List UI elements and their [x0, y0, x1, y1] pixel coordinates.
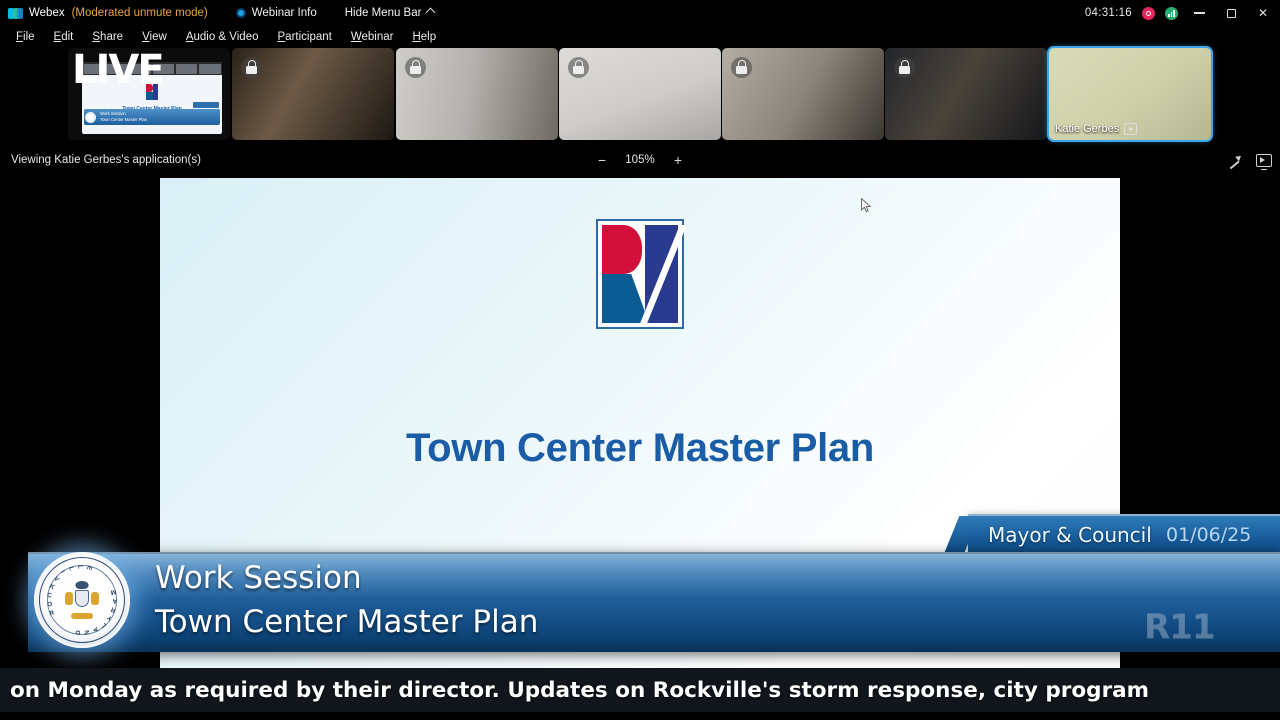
participant-tile[interactable]	[396, 48, 558, 140]
zoom-controls: − 105% +	[595, 153, 685, 167]
title-bar-left-group: Webex (Moderated unmute mode) Webinar In…	[8, 0, 434, 26]
zoom-out-button[interactable]: −	[595, 153, 609, 167]
share-preview-tag	[193, 102, 219, 108]
menu-bar: File Edit Share View Audio & Video Parti…	[0, 26, 1280, 48]
info-icon	[236, 8, 246, 18]
moderated-mode-label: (Moderated unmute mode)	[72, 7, 208, 19]
caption-text: on Monday as required by their director.…	[0, 678, 1149, 703]
mouse-cursor-icon	[861, 198, 872, 214]
share-toolbar-right-group	[1227, 153, 1272, 168]
broadcast-session-type: Work Session	[155, 560, 362, 596]
share-preview-banner-line2: Town Center Master Plan	[100, 117, 147, 123]
title-bar-right-group: 04:31:16 ✕	[1085, 0, 1274, 26]
share-preview-lower-third: Work Session Town Center Master Plan	[84, 109, 220, 125]
chevron-up-icon	[426, 7, 436, 17]
broadcast-date: 01/06/25	[1166, 524, 1251, 546]
menu-item-webinar[interactable]: Webinar	[343, 29, 402, 45]
app-name-label: Webex	[29, 7, 65, 19]
menu-item-participant[interactable]: Participant	[270, 29, 340, 45]
bottom-edge-strip	[0, 712, 1280, 720]
participant-name-badge: Katie Gerbes	[1055, 123, 1137, 135]
participant-filmstrip: Town Center Master Plan Work Session Tow…	[0, 48, 1280, 144]
minimize-button[interactable]	[1188, 3, 1210, 23]
hide-menu-bar-button[interactable]: Hide Menu Bar	[345, 7, 435, 19]
webinar-info-label: Webinar Info	[252, 7, 317, 19]
recording-icon[interactable]	[1142, 7, 1155, 20]
mute-lock-icon	[894, 57, 915, 78]
menu-item-help[interactable]: Help	[404, 29, 444, 45]
closed-caption-bar: on Monday as required by their director.…	[0, 668, 1280, 712]
hide-menu-bar-label: Hide Menu Bar	[345, 7, 422, 19]
channel-watermark: R11	[1144, 607, 1215, 647]
monitor-icon[interactable]	[1256, 154, 1272, 167]
viewing-status-label: Viewing Katie Gerbes's application(s)	[11, 154, 201, 166]
zoom-in-button[interactable]: +	[671, 153, 685, 167]
participant-tile[interactable]	[885, 48, 1047, 140]
menu-item-share[interactable]: Share	[84, 29, 131, 45]
seal-circular-text: ROCKVILLE · MARYLAND	[34, 552, 130, 648]
webinar-info-button[interactable]: Webinar Info	[236, 7, 317, 19]
broadcast-top-banner: Mayor & Council 01/06/25	[968, 514, 1280, 552]
mute-lock-icon	[568, 57, 589, 78]
mute-lock-icon	[731, 57, 752, 78]
share-preview-thumbnail[interactable]: Town Center Master Plan Work Session Tow…	[68, 48, 230, 140]
share-preview-seal-icon	[85, 112, 96, 123]
menu-item-view[interactable]: View	[134, 29, 175, 45]
participant-tile[interactable]	[232, 48, 394, 140]
session-timer: 04:31:16	[1085, 7, 1132, 19]
zoom-level-label: 105%	[623, 154, 657, 166]
close-button[interactable]: ✕	[1252, 3, 1274, 23]
live-overlay-label: LIVE	[72, 50, 163, 90]
participant-tile-katie-gerbes[interactable]: Katie Gerbes	[1049, 48, 1211, 140]
signal-strength-icon[interactable]	[1165, 7, 1178, 20]
webex-app-window: Webex (Moderated unmute mode) Webinar In…	[0, 0, 1280, 720]
participant-tile[interactable]	[559, 48, 721, 140]
rockville-r-logo-icon	[596, 219, 684, 329]
menu-item-audio-video[interactable]: Audio & Video	[178, 29, 267, 45]
share-toolbar: Viewing Katie Gerbes's application(s) − …	[0, 148, 1280, 176]
menu-item-file[interactable]: File	[8, 29, 43, 45]
mute-lock-icon	[241, 57, 262, 78]
presenter-badge-icon	[1124, 123, 1137, 135]
maximize-button[interactable]	[1220, 3, 1242, 23]
mute-lock-icon	[405, 57, 426, 78]
menu-item-edit[interactable]: Edit	[46, 29, 82, 45]
slide-title: Town Center Master Plan	[160, 426, 1120, 471]
annotate-icon[interactable]	[1227, 153, 1242, 168]
window-title-bar: Webex (Moderated unmute mode) Webinar In…	[0, 0, 1280, 26]
broadcast-meeting-title: Mayor & Council	[988, 523, 1152, 547]
webex-logo-icon	[8, 8, 22, 19]
rockville-city-seal-icon: ROCKVILLE · MARYLAND	[34, 552, 130, 648]
participant-name-label: Katie Gerbes	[1055, 123, 1119, 135]
participant-tile[interactable]	[722, 48, 884, 140]
broadcast-session-topic: Town Center Master Plan	[155, 604, 538, 640]
